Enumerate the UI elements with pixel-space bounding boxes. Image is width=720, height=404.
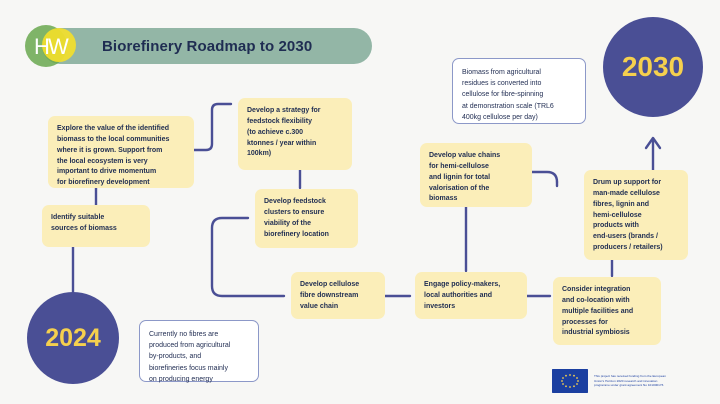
step-engage-policy-makers: Engage policy-makers, local authorities … [415,272,527,319]
year-marker-2030: 2030 [603,17,703,117]
wire-valuechains-to-drumup [531,172,557,182]
eu-funding-badge: This project has received funding from t… [552,368,712,394]
arrowhead-2030 [646,138,660,148]
eu-flag-icon [552,369,588,393]
step-feedstock-clusters: Develop feedstock clusters to ensure via… [255,189,358,248]
step-identify-sources: Identify suitable sources of biomass [42,205,150,247]
step-value-chains: Develop value chains for hemi-cellulose … [420,143,532,207]
callout-current-state: Currently no fibres are produced from ag… [139,320,259,382]
step-drum-up-support: Drum up support for man-made cellulose f… [584,170,688,260]
eu-funding-disclaimer: This project has received funding from t… [594,374,666,387]
step-industrial-symbiosis: Consider integration and co-location wit… [553,277,661,345]
page-title: Biorefinery Roadmap to 2030 [102,38,312,55]
step-explore-value: Explore the value of the identified biom… [48,116,194,188]
svg-text:W: W [48,34,69,59]
title-bar: Biorefinery Roadmap to 2030 [42,28,372,64]
year-marker-2024: 2024 [27,292,119,384]
step-downstream-value-chain: Develop cellulose fibre downstream value… [291,272,385,319]
callout-target-state: Biomass from agricultural residues is co… [452,58,586,124]
step-feedstock-strategy: Develop a strategy for feedstock flexibi… [238,98,352,170]
roadmap-canvas: Biorefinery Roadmap to 2030 H W 2024 203… [0,0,720,404]
hw-logo: H W [20,22,82,70]
wire-explore-to-strategy [193,104,231,150]
